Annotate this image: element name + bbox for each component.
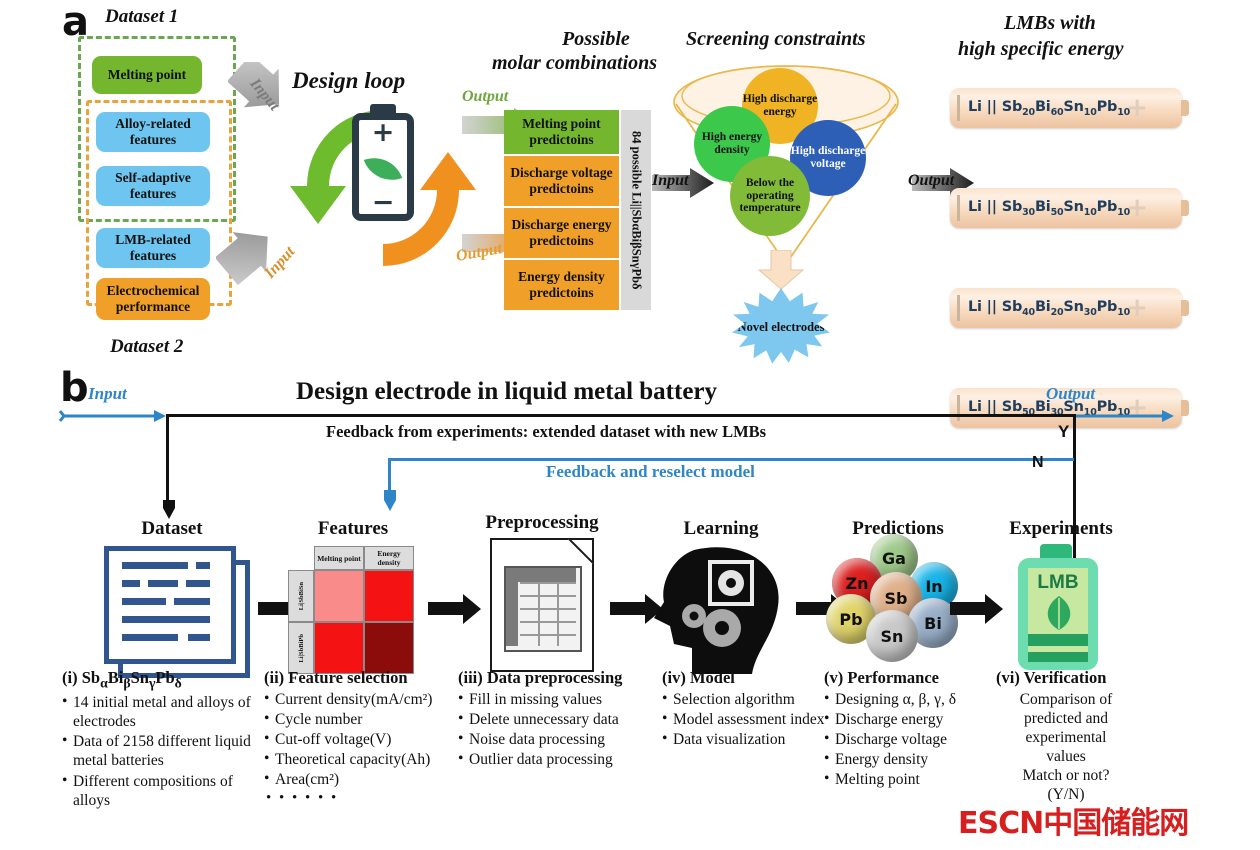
- bullet: Delete unnecessary data: [458, 710, 668, 729]
- step-head-5: (v) Performance: [824, 668, 994, 688]
- prediction-discharge-voltage: Discharge voltage predictoins: [504, 156, 619, 206]
- screening-title: Screening constraints: [686, 28, 865, 51]
- novel-down-arrow-icon: [758, 250, 804, 290]
- lmb-title-line1: LMBs with: [1004, 12, 1096, 35]
- escn-watermark: ESCN中国储能网: [958, 798, 1188, 842]
- frame-top-line: [166, 414, 1076, 417]
- bullet: Theoretical capacity(Ah): [264, 750, 454, 769]
- prediction-label: Discharge voltage predictoins: [504, 165, 619, 196]
- bullets-ellipsis: • • • • • •: [266, 790, 454, 807]
- lmb-plus-icon: +: [1126, 95, 1148, 121]
- feature-label: Melting point: [108, 67, 186, 83]
- panel-b-input-label: Input: [88, 384, 127, 404]
- feature-electrochemical-performance[interactable]: Electrochemical performance: [96, 278, 210, 320]
- bullet: Melting point: [824, 770, 994, 789]
- novel-electrodes-badge: Novel electrodes: [732, 288, 830, 366]
- verification-line: Match or not?: [996, 766, 1136, 785]
- arrow-features-to-preprocessing: [428, 602, 464, 615]
- panel-a: a Dataset 1 Melting point Alloy-related …: [0, 0, 1260, 372]
- no-branch-label: N: [1032, 454, 1044, 472]
- dataset-icon: [100, 546, 248, 670]
- feature-cell-1-2: [364, 570, 414, 622]
- bullet: Discharge energy: [824, 710, 994, 729]
- step-title-experiments: Experiments: [986, 518, 1136, 540]
- panel-b-output-arrow-icon: [1076, 408, 1176, 424]
- bullet: Fill in missing values: [458, 690, 668, 709]
- output-label-top: Output: [462, 88, 508, 106]
- possible-title-line2: molar combinations: [492, 52, 657, 75]
- step-bullets-1: 14 initial metal and alloys of electrode…: [62, 693, 258, 809]
- feedback-bar-text: Feedback from experiments: extended data…: [326, 422, 766, 442]
- step-head-1: (i) SbαBiβSnγPbδ: [62, 668, 258, 691]
- verification-line: values: [996, 747, 1136, 766]
- bullet: Cut-off voltage(V): [264, 730, 454, 749]
- lmb-plus-icon: +: [1126, 195, 1148, 221]
- possible-combinations-strip: 84 possible Li||SbαBiβSnγPbδ: [621, 110, 651, 310]
- leaf-icon: [1044, 596, 1074, 630]
- lmb-cell-label: Li || Sb30Bi50Sn10Pb10: [968, 199, 1130, 218]
- step-text-model: (iv) Model Selection algorithm Model ass…: [662, 668, 844, 750]
- arrow-predictions-to-experiments: [950, 602, 986, 615]
- battery-plus: +: [372, 125, 395, 141]
- panel-b: b Input Design electrode in liquid metal…: [0, 372, 1260, 850]
- feature-row-label-2: Li|SbBiPb: [288, 622, 314, 674]
- feature-cell-2-1: [314, 622, 364, 674]
- feature-label: Electrochemical performance: [96, 283, 210, 314]
- panel-b-letter: b: [60, 368, 89, 408]
- feature-self-adaptive[interactable]: Self-adaptive features: [96, 166, 210, 206]
- bullet: Discharge voltage: [824, 730, 994, 749]
- step-title-preprocessing: Preprocessing: [452, 512, 632, 534]
- step-text-dataset: (i) SbαBiβSnγPbδ 14 initial metal and al…: [62, 668, 258, 811]
- bullet: Noise data processing: [458, 730, 668, 749]
- step-bullets-5: Designing α, β, γ, δ Discharge energy Di…: [824, 690, 994, 789]
- frame-left-line: [166, 414, 169, 512]
- bullet: Outlier data processing: [458, 750, 668, 769]
- learning-brain-icon: [648, 544, 798, 674]
- possible-title-line1: Possible: [562, 28, 630, 51]
- bullet: 14 initial metal and alloys of electrode…: [62, 693, 258, 731]
- feature-lmb-related[interactable]: LMB-related features: [96, 228, 210, 268]
- step-head-6: (vi) Verification: [996, 668, 1136, 688]
- yes-branch-label: Y: [1058, 422, 1069, 442]
- bullet: Selection algorithm: [662, 690, 844, 709]
- feature-melting-point[interactable]: Melting point: [92, 56, 202, 94]
- panel-b-title: Design electrode in liquid metal battery: [296, 378, 717, 406]
- feature-col-energy-density: Energy density: [364, 546, 414, 570]
- constraint-label: High discharge voltage: [790, 145, 866, 171]
- prediction-discharge-energy: Discharge energy predictoins: [504, 208, 619, 258]
- novel-electrodes-label: Novel electrodes: [738, 320, 825, 334]
- prediction-energy-density: Energy density predictoins: [504, 260, 619, 310]
- feature-label: LMB-related features: [96, 232, 210, 263]
- leaf-icon: [364, 150, 402, 188]
- feedback-model-arrow-icon: [381, 490, 399, 512]
- bullet: Cycle number: [264, 710, 454, 729]
- step-text-preprocessing: (iii) Data preprocessing Fill in missing…: [458, 668, 668, 770]
- verification-line: predicted and: [996, 709, 1136, 728]
- feature-label: Self-adaptive features: [96, 170, 210, 201]
- verification-line: Comparison of: [996, 690, 1136, 709]
- feature-cell-2-2: [364, 622, 414, 674]
- step-bullets-3: Fill in missing values Delete unnecessar…: [458, 690, 668, 769]
- preprocessing-icon: [490, 538, 594, 672]
- lmb-cell-label: Li || Sb40Bi20Sn30Pb10: [968, 299, 1130, 318]
- prediction-label: Energy density predictoins: [504, 269, 619, 300]
- screening-output-label: Output: [908, 172, 954, 190]
- step-text-features: (ii) Feature selection Current density(m…: [264, 668, 454, 807]
- constraint-label: Below the operating temperature: [730, 177, 810, 216]
- prediction-melting-point: Melting point predictoins: [504, 110, 619, 154]
- frame-down-arrow-icon: [160, 500, 178, 520]
- lmb-title-line2: high specific energy: [958, 38, 1124, 61]
- feedback-model-text: Feedback and reselect model: [546, 462, 755, 482]
- lmb-cell-label: Li || Sb20Bi60Sn10Pb10: [968, 99, 1130, 118]
- lmb-battery-label: LMB: [1028, 572, 1088, 594]
- step-title-learning: Learning: [656, 518, 786, 540]
- design-loop-title: Design loop: [292, 68, 405, 94]
- experiments-lmb-battery-icon: LMB: [1006, 544, 1110, 674]
- step-head-3: (iii) Data preprocessing: [458, 668, 668, 688]
- design-loop-battery-icon: + −: [352, 104, 414, 221]
- bullet: Different compositions of alloys: [62, 772, 258, 810]
- lmb-cell-3[interactable]: Li || Sb40Bi20Sn30Pb10 +: [950, 288, 1182, 328]
- feature-cell-1-1: [314, 570, 364, 622]
- lmb-cell-1[interactable]: Li || Sb20Bi60Sn10Pb10 +: [950, 88, 1182, 128]
- feature-row-label-1: Li|SbBiSn: [288, 570, 314, 622]
- feature-col-melting-point: Melting point: [314, 546, 364, 570]
- bullet: Designing α, β, γ, δ: [824, 690, 994, 709]
- features-heatmap-table: Melting point Energy density Li|SbBiSn L…: [288, 546, 414, 674]
- feedback-model-line-top: [388, 458, 1074, 461]
- step-title-features: Features: [288, 518, 418, 540]
- arrow-preprocessing-to-learning: [610, 602, 646, 615]
- bullet: Data visualization: [662, 730, 844, 749]
- dataset2-label: Dataset 2: [110, 336, 183, 358]
- possible-combinations-text: 84 possible Li||SbαBiβSnγPbδ: [629, 131, 644, 290]
- constraint-label: High energy density: [694, 131, 770, 157]
- battery-minus: −: [372, 197, 395, 209]
- step-head-4: (iv) Model: [662, 668, 844, 688]
- dataset1-label: Dataset 1: [105, 6, 178, 28]
- prediction-label: Discharge energy predictoins: [504, 217, 619, 248]
- lmb-plus-icon: +: [1126, 295, 1148, 321]
- feature-label: Alloy-related features: [96, 116, 210, 147]
- constraint-below-operating-temperature[interactable]: Below the operating temperature: [730, 156, 810, 236]
- bullet: Model assessment index: [662, 710, 844, 729]
- sphere-sn[interactable]: Sn: [866, 610, 918, 662]
- bullet: Energy density: [824, 750, 994, 769]
- bullet: Current density(mA/cm²): [264, 690, 454, 709]
- step-title-dataset: Dataset: [112, 518, 232, 540]
- panel-b-output-label: Output: [1046, 384, 1095, 404]
- step-bullets-2: Current density(mA/cm²) Cycle number Cut…: [264, 690, 454, 789]
- verification-line: experimental: [996, 728, 1136, 747]
- step-text-verification: (vi) Verification Comparison of predicte…: [996, 668, 1136, 804]
- prediction-label: Melting point predictoins: [504, 116, 619, 147]
- step-text-performance: (v) Performance Designing α, β, γ, δ Dis…: [824, 668, 994, 790]
- step-head-2: (ii) Feature selection: [264, 668, 454, 688]
- lmb-cell-2[interactable]: Li || Sb30Bi50Sn10Pb10 +: [950, 188, 1182, 228]
- panel-b-input-arrow-icon: [58, 408, 168, 424]
- bullet: Data of 2158 different liquid metal batt…: [62, 732, 258, 770]
- step-bullets-4: Selection algorithm Model assessment ind…: [662, 690, 844, 749]
- bullet: Area(cm²): [264, 770, 454, 789]
- feature-alloy-related[interactable]: Alloy-related features: [96, 112, 210, 152]
